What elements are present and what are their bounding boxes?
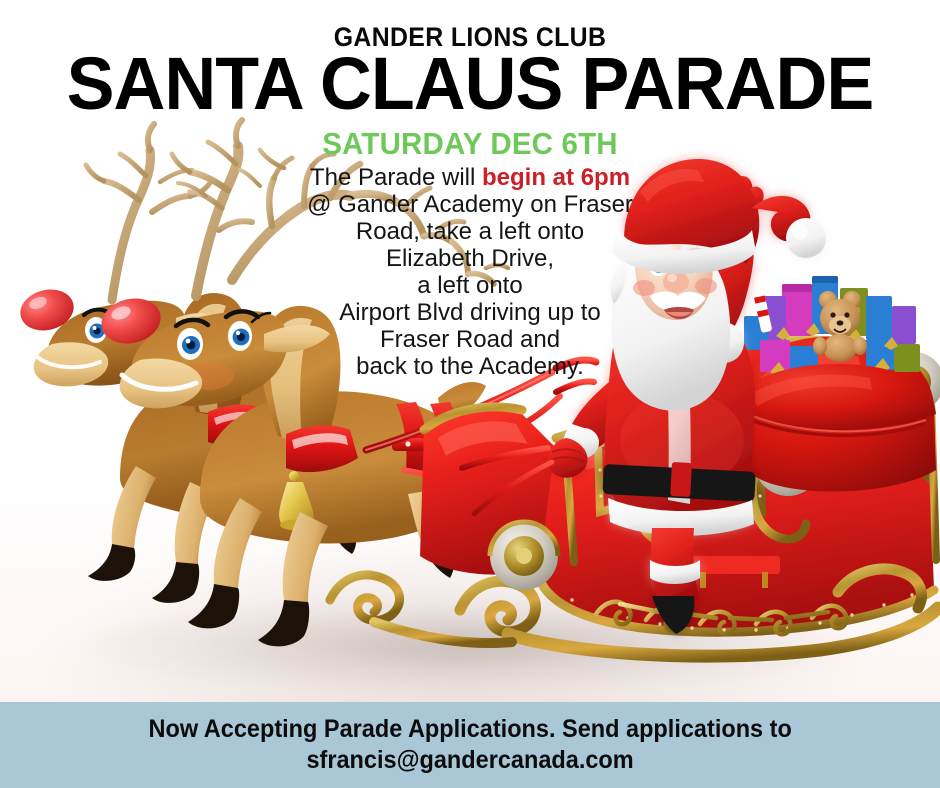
sleigh-step-plate	[688, 556, 780, 574]
page-title: SANTA CLAUS PARADE	[14, 46, 926, 122]
poster-canvas: GANDER LIONS CLUB SANTA CLAUS PARADE SAT…	[0, 0, 940, 788]
santa-hat-pom	[786, 218, 826, 258]
detail-line-3: Road, take a left onto	[190, 218, 750, 245]
detail-line-6: Airport Blvd driving up to	[190, 299, 750, 326]
detail-line-2: @ Gander Academy on Fraser	[190, 191, 750, 218]
event-date: SATURDAY DEC 6TH	[24, 126, 917, 162]
gift-sack	[732, 276, 936, 492]
start-time-highlight: begin at 6pm	[482, 164, 630, 191]
detail-line-7: Fraser Road and	[190, 326, 750, 353]
application-banner: Now Accepting Parade Applications. Send …	[0, 702, 940, 788]
detail-line-5: a left onto	[190, 272, 750, 299]
event-details: The Parade will begin at 6pm @ Gander Ac…	[190, 164, 750, 380]
detail-line-8: back to the Academy.	[190, 353, 750, 380]
detail-line-1: The Parade will begin at 6pm	[190, 164, 750, 191]
application-instructions: Now Accepting Parade Applications. Send …	[148, 714, 791, 745]
application-email[interactable]: sfrancis@gandercanada.com	[306, 745, 633, 776]
detail-line-1-prefix: The Parade will	[310, 164, 482, 191]
detail-line-4: Elizabeth Drive,	[190, 245, 750, 272]
